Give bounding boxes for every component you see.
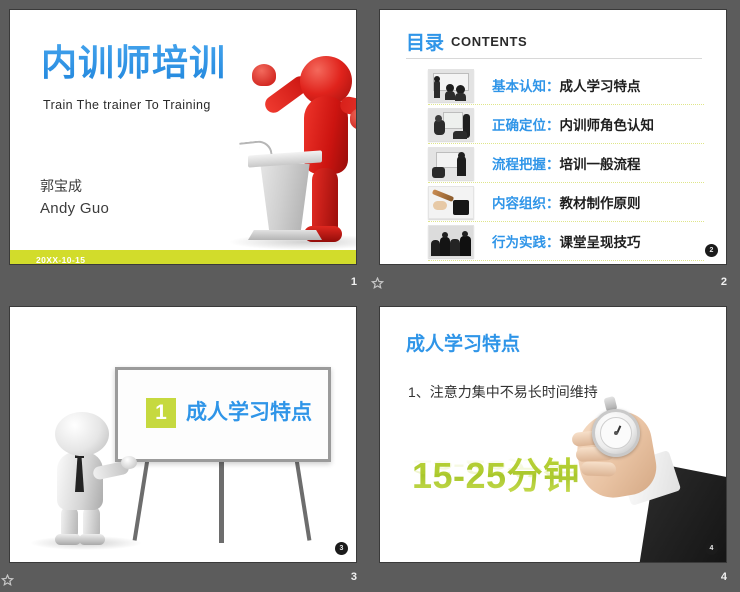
section-number-badge: 1 [146,398,176,428]
list-item-text: 内容组织：教材制作原则 [492,192,641,212]
list-item-key: 正确定位： [492,118,560,133]
slide-caption-2: 2 [721,276,727,288]
slide2-heading: 目录CONTENTS [406,28,527,55]
list-item-text: 基本认知：成人学习特点 [492,75,641,95]
podium [248,153,322,245]
slide1-author-cn: 郭宝成 [40,176,82,196]
presenter-at-screen-photo [428,147,474,180]
slide-thumbnail-2[interactable]: 目录CONTENTS 基本认知：成人学习特点 [379,9,727,265]
slide-thumbnail-1[interactable]: 内训师培训 Train The trainer To Training 郭宝成 … [9,9,357,265]
list-item-text: 流程把握：培训一般流程 [492,153,641,173]
figure-left-hand [252,64,276,86]
slide-cell-2[interactable]: 目录CONTENTS 基本认知：成人学习特点 [370,0,740,294]
slide4-title: 成人学习特点 [406,329,520,356]
list-item[interactable]: 基本认知：成人学习特点 [428,66,704,105]
slide1-author-en: Andy Guo [40,200,109,217]
contents-list: 基本认知：成人学习特点 正确定位：内训师角色认知 [428,66,704,261]
podium-body [257,164,313,232]
slide2-heading-rule [406,58,702,59]
classroom-audience-photo [428,225,474,258]
animation-star-icon[interactable] [1,574,14,587]
figure-foot-left [55,534,81,545]
list-item[interactable]: 内容组织：教材制作原则 [428,183,704,222]
stopwatch-pin [614,431,618,435]
easel-leg-center [219,459,224,543]
status-badge: 4 [705,542,718,555]
slide-cell-1[interactable]: 内训师培训 Train The trainer To Training 郭宝成 … [0,0,370,294]
list-item[interactable]: 正确定位：内训师角色认知 [428,105,704,144]
slide-cell-4[interactable]: 成人学习特点 1、注意力集中不易长时间维持 15-25分钟 15-25分钟 [370,294,740,589]
trainer-at-whiteboard-photo [428,69,474,102]
figure-foot-right [79,534,105,545]
animation-star-icon[interactable] [371,277,384,290]
list-item-key: 流程把握： [492,157,560,172]
status-badge: 3 [335,542,348,555]
slide-caption-1: 1 [351,276,357,288]
slide-caption-4: 4 [721,571,727,583]
slide1-subtitle: Train The trainer To Training [43,98,211,112]
slide4-highlight-reflection: 15-25分钟 [412,454,580,483]
slide-sorter-grid: 内训师培训 Train The trainer To Training 郭宝成 … [0,0,740,589]
status-badge: 2 [705,244,718,257]
list-item-value: 培训一般流程 [560,157,641,172]
list-item-key: 内容组织： [492,196,560,211]
easel: 1 成人学习特点 [115,367,331,542]
hand-writing-photo [428,186,474,219]
figure-right-hand [350,108,357,130]
stopwatch [592,409,640,457]
figure-hand [121,456,137,469]
slide-caption-3: 3 [351,571,357,583]
easel-leg-right [295,459,312,541]
slide2-heading-en: CONTENTS [451,34,527,49]
finger [581,461,616,476]
easel-leg-left [133,459,150,541]
figure-head [55,412,109,456]
slide-thumbnail-4[interactable]: 成人学习特点 1、注意力集中不易长时间维持 15-25分钟 15-25分钟 [379,306,727,563]
easel-board: 1 成人学习特点 [115,367,331,462]
list-item-value: 内训师角色认知 [560,118,655,133]
list-item-value: 成人学习特点 [560,79,641,94]
stopwatch-face [600,417,632,449]
list-item-value: 教材制作原则 [560,196,641,211]
slide-thumbnail-3[interactable]: 1 成人学习特点 3 [9,306,357,563]
list-item[interactable]: 流程把握：培训一般流程 [428,144,704,183]
list-item-key: 基本认知： [492,79,560,94]
podium-base [248,230,322,240]
section-title: 成人学习特点 [186,398,312,428]
white-3d-figure [35,412,125,542]
list-item-text: 正确定位：内训师角色认知 [492,114,654,134]
list-item-key: 行为实践： [492,235,560,250]
list-item-text: 行为实践：课堂呈现技巧 [492,231,641,251]
slide-cell-3[interactable]: 1 成人学习特点 3 [0,294,370,589]
list-item-value: 课堂呈现技巧 [560,235,641,250]
slide1-title: 内训师培训 [41,34,226,86]
slide1-date: 20XX-10-15 [36,255,85,265]
list-item[interactable]: 行为实践：课堂呈现技巧 [428,222,704,261]
hand-holding-stopwatch-photo [558,385,727,563]
seated-trainer-photo [428,108,474,141]
slide2-heading-cn: 目录 [406,33,444,54]
